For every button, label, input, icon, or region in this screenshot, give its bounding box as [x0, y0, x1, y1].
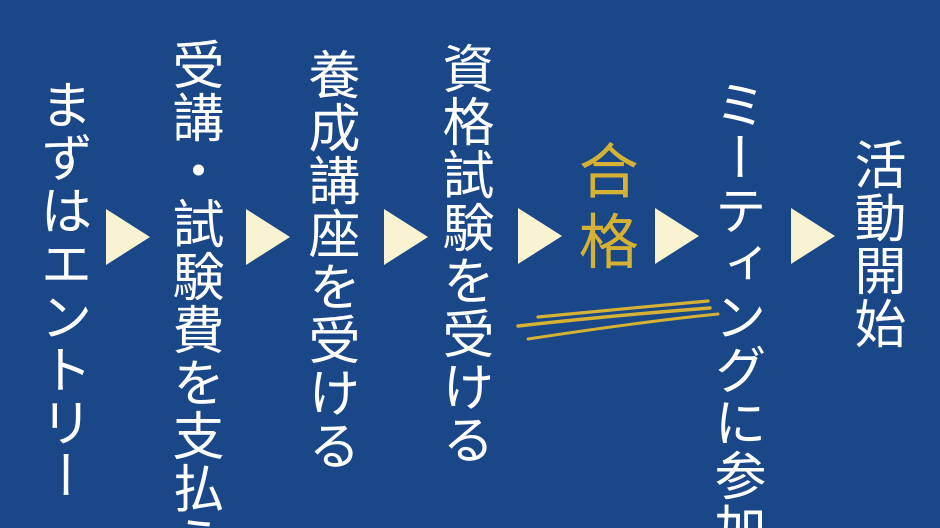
flow-step-5-label-highlight: 合格 — [572, 140, 633, 282]
arrow-right-icon-5 — [655, 208, 699, 264]
flow-diagram-canvas: まずはエントリー 受講・試験費を支払う 養成講座を受ける 資格試験を受ける 合格… — [0, 0, 940, 528]
arrow-right-icon-1 — [106, 209, 150, 265]
flow-step-4-label: 資格試験を受ける — [436, 42, 489, 466]
arrow-right-icon-3 — [384, 209, 428, 265]
hand-drawn-underline-strokes — [512, 292, 722, 354]
arrow-right-icon-2 — [246, 209, 290, 265]
arrow-right-icon-4 — [518, 208, 562, 264]
flow-step-2-label: 受講・試験費を支払う — [166, 38, 219, 528]
flow-step-1-label: まずはエントリー — [34, 78, 87, 502]
flow-step-6-label: ミーティングに参加 — [708, 78, 761, 528]
flow-step-7-label: 活動開始 — [848, 138, 901, 350]
flow-step-3-label: 養成講座を受ける — [302, 48, 355, 472]
arrow-right-icon-6 — [791, 208, 835, 264]
